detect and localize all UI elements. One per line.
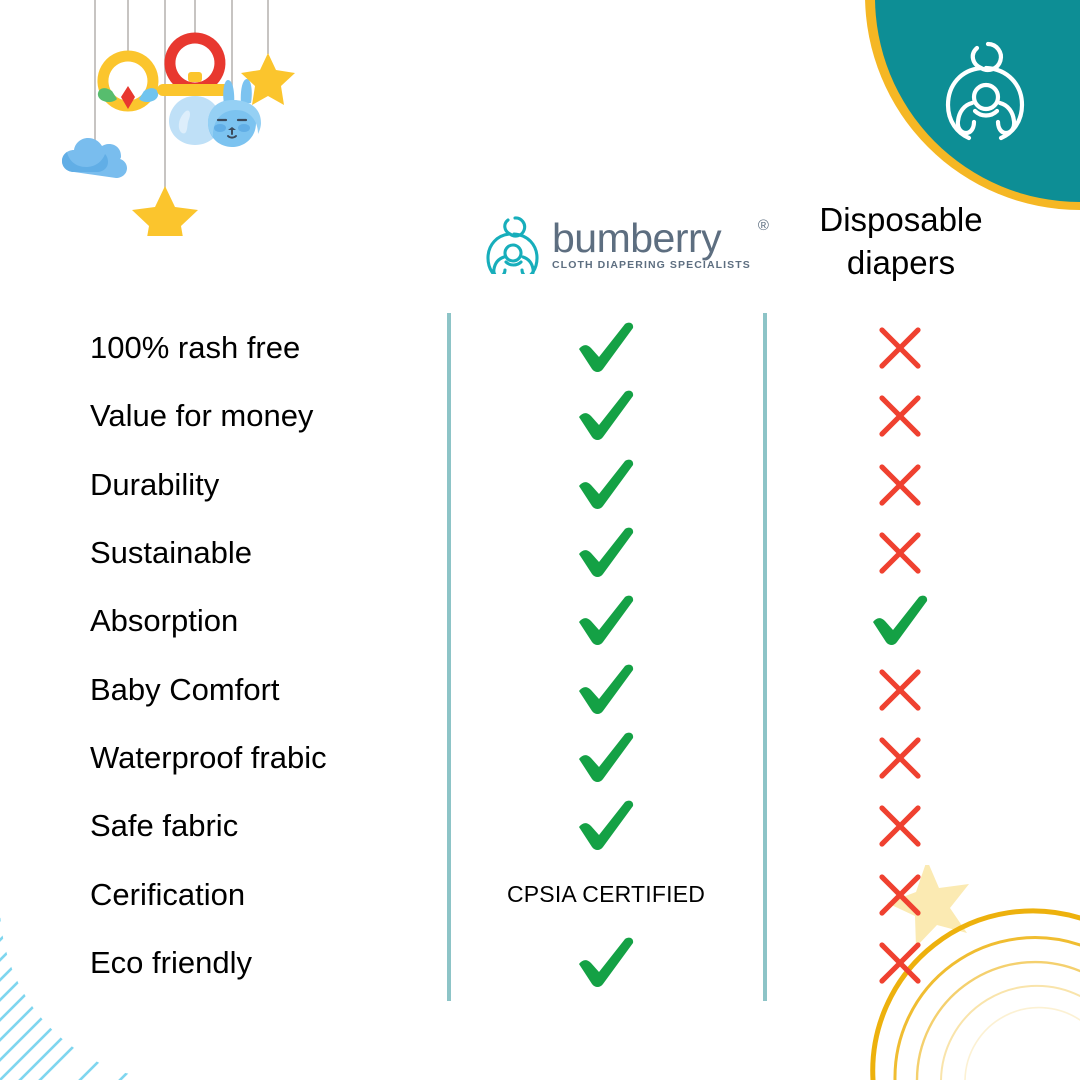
cell-bumberry — [451, 314, 761, 382]
cell-disposable — [767, 724, 1033, 792]
table-row: Sustainable — [0, 519, 1080, 587]
brand-tagline: CLOTH DIAPERING SPECIALISTS — [552, 259, 751, 271]
brand-wordmark: bumberry — [552, 219, 751, 258]
pacifier-icon — [157, 38, 233, 145]
cross-icon — [876, 529, 924, 577]
cross-icon — [876, 734, 924, 782]
mother-and-baby-icon — [484, 212, 546, 274]
cell-disposable — [767, 314, 1033, 382]
check-icon — [870, 595, 930, 647]
cross-icon — [876, 802, 924, 850]
star-icon — [241, 53, 295, 105]
cell-disposable — [767, 929, 1033, 997]
feature-label: 100% rash free — [90, 314, 300, 382]
feature-label: Sustainable — [90, 519, 252, 587]
table-row: Absorption — [0, 587, 1080, 655]
check-icon — [576, 527, 636, 579]
feature-label: Value for money — [90, 382, 313, 450]
table-row: CerificationCPSIA CERTIFIED — [0, 860, 1080, 928]
feature-label: Durability — [90, 451, 219, 519]
table-row: Baby Comfort — [0, 655, 1080, 723]
check-icon — [576, 595, 636, 647]
cell-bumberry — [451, 792, 761, 860]
check-icon — [576, 800, 636, 852]
cross-icon — [876, 871, 924, 919]
table-row: Durability — [0, 451, 1080, 519]
cloud-icon — [62, 138, 127, 178]
column-header-disposable: Disposable diapers — [790, 198, 1012, 284]
cell-bumberry — [451, 451, 761, 519]
cell-disposable — [767, 792, 1033, 860]
cell-bumberry: CPSIA CERTIFIED — [451, 860, 761, 928]
hanging-baby-mobile — [50, 0, 320, 236]
check-icon — [576, 937, 636, 989]
check-icon — [576, 459, 636, 511]
check-icon — [576, 390, 636, 442]
feature-label: Absorption — [90, 587, 238, 655]
comparison-table: 100% rash freeValue for moneyDurabilityS… — [0, 314, 1080, 997]
cross-icon — [876, 324, 924, 372]
cell-disposable — [767, 519, 1033, 587]
check-icon — [576, 664, 636, 716]
cross-icon — [876, 939, 924, 987]
check-icon — [576, 322, 636, 374]
registered-trademark-icon: ® — [758, 217, 769, 234]
feature-label: Eco friendly — [90, 929, 252, 997]
corner-badge — [820, 0, 1080, 210]
mobile-strings — [95, 0, 268, 188]
feature-label: Waterproof frabic — [90, 724, 327, 792]
check-icon — [576, 732, 636, 784]
table-row: Eco friendly — [0, 929, 1080, 997]
table-row: Value for money — [0, 382, 1080, 450]
cell-bumberry — [451, 724, 761, 792]
cross-icon — [876, 666, 924, 714]
bunny-icon — [208, 79, 261, 147]
feature-label: Baby Comfort — [90, 655, 280, 723]
cell-disposable — [767, 451, 1033, 519]
comparison-infographic: bumberry ® CLOTH DIAPERING SPECIALISTS D… — [0, 0, 1080, 1080]
cell-bumberry — [451, 929, 761, 997]
mother-and-baby-icon — [948, 44, 1022, 138]
brand-logo: bumberry ® CLOTH DIAPERING SPECIALISTS — [484, 203, 734, 283]
column-header-disposable-line2: diapers — [790, 241, 1012, 284]
cell-disposable — [767, 382, 1033, 450]
feature-label: Safe fabric — [90, 792, 238, 860]
cell-disposable — [767, 587, 1033, 655]
cell-bumberry — [451, 382, 761, 450]
cell-bumberry — [451, 519, 761, 587]
cell-bumberry — [451, 587, 761, 655]
table-row: Waterproof frabic — [0, 724, 1080, 792]
feature-label: Cerification — [90, 860, 245, 928]
cross-icon — [876, 461, 924, 509]
rattle-ring-icon — [98, 56, 158, 109]
column-header-disposable-line1: Disposable — [790, 198, 1012, 241]
table-row: 100% rash free — [0, 314, 1080, 382]
cell-disposable — [767, 655, 1033, 723]
certification-label: CPSIA CERTIFIED — [507, 881, 705, 908]
cross-icon — [876, 392, 924, 440]
table-row: Safe fabric — [0, 792, 1080, 860]
cell-bumberry — [451, 655, 761, 723]
star-icon — [132, 186, 198, 236]
cell-disposable — [767, 860, 1033, 928]
